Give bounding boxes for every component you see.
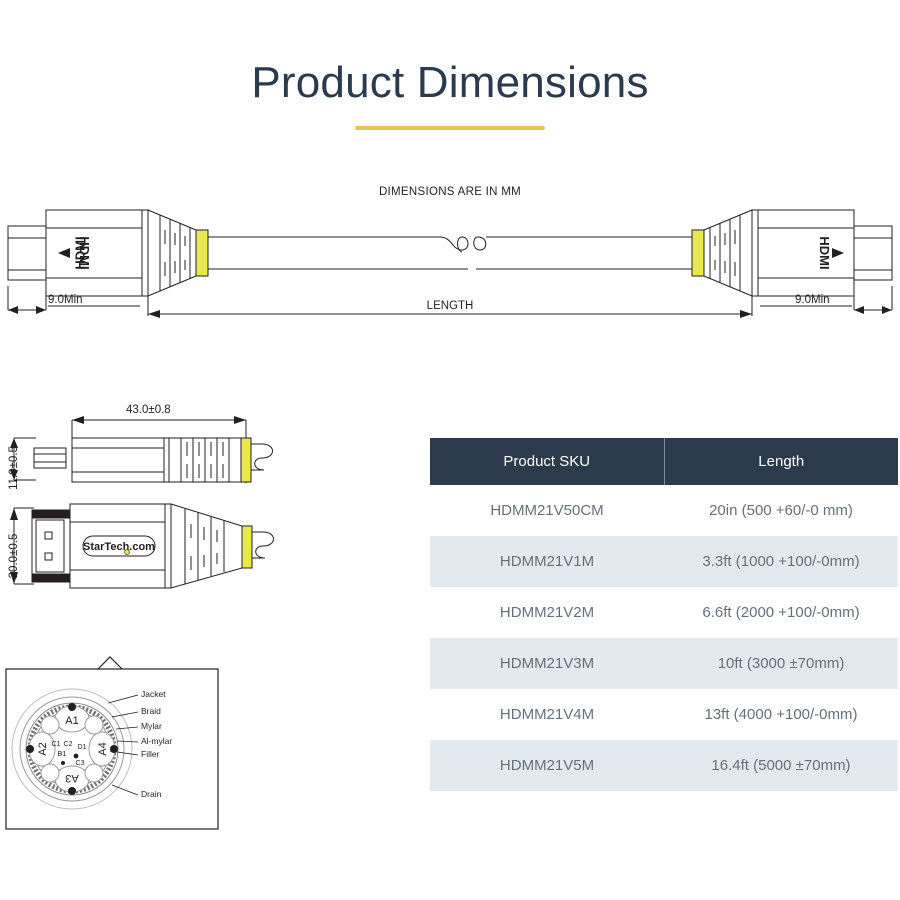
table-row: HDMM21V5M 16.4ft (5000 ±70mm) bbox=[430, 740, 898, 791]
conductor-label-a1: A1 bbox=[65, 715, 78, 727]
connector-top-view-diagram: StarTech.com bbox=[0, 498, 300, 608]
conductor-label-c3: C3 bbox=[76, 760, 85, 767]
column-header-sku: Product SKU bbox=[430, 438, 664, 485]
callout-label-jacket: Jacket bbox=[141, 689, 166, 699]
callout-label-filler: Filler bbox=[141, 749, 160, 759]
product-spec-table: Product SKU Length HDMM21V50CM 20in (500… bbox=[430, 438, 898, 791]
callout-label-al-mylar: Al-mylar bbox=[141, 736, 172, 746]
table-row: HDMM21V3M 10ft (3000 ±70mm) bbox=[430, 638, 898, 689]
svg-text:HDMI: HDMI bbox=[77, 236, 92, 269]
cell-sku: HDMM21V1M bbox=[430, 536, 664, 587]
cable-cross-section-diagram: A1 A2 A3 A4 C1 C2 D1 B1 C3 bbox=[0, 655, 230, 840]
title-accent-bar bbox=[355, 126, 545, 130]
units-note: DIMENSIONS ARE IN MM bbox=[0, 186, 900, 198]
conductor-label-a4: A4 bbox=[97, 742, 109, 755]
conductor-label-c1: C1 bbox=[52, 741, 61, 748]
callout-label-braid: Braid bbox=[141, 706, 161, 716]
conductor-label-c2: C2 bbox=[64, 741, 73, 748]
table-row: HDMM21V1M 3.3ft (1000 +100/-0mm) bbox=[430, 536, 898, 587]
cell-length: 16.4ft (5000 ±70mm) bbox=[664, 740, 898, 791]
cell-length: 13ft (4000 +100/-0mm) bbox=[664, 689, 898, 740]
svg-text:HDMI: HDMI bbox=[817, 236, 832, 269]
page-title: Product Dimensions bbox=[0, 58, 900, 108]
side-view-height-dimension-label: 11.0±0.5 bbox=[8, 438, 20, 498]
conductor-label-b1: B1 bbox=[57, 749, 66, 758]
cable-length-dimension-label: LENGTH bbox=[0, 300, 900, 312]
cell-sku: HDMM21V2M bbox=[430, 587, 664, 638]
column-header-length: Length bbox=[664, 438, 898, 485]
conductor-label-a2: A2 bbox=[37, 742, 49, 755]
cell-sku: HDMM21V5M bbox=[430, 740, 664, 791]
startech-logo-text: StarTech.com bbox=[83, 541, 155, 553]
right-connector-min-dimension-label: 9.0Min bbox=[795, 294, 830, 306]
cell-length: 3.3ft (1000 +100/-0mm) bbox=[664, 536, 898, 587]
table-row: HDMM21V4M 13ft (4000 +100/-0mm) bbox=[430, 689, 898, 740]
callout-label-mylar: Mylar bbox=[141, 721, 162, 731]
top-view-width-dimension-label: 20.0±0.5 bbox=[8, 525, 20, 587]
product-dimensions-page: Product Dimensions DIMENSIONS ARE IN MM bbox=[0, 0, 900, 900]
table-header-row: Product SKU Length bbox=[430, 438, 898, 485]
conductor-label-a3: A3 bbox=[65, 772, 78, 784]
cell-length: 20in (500 +60/-0 mm) bbox=[664, 485, 898, 536]
cell-sku: HDMM21V50CM bbox=[430, 485, 664, 536]
cell-sku: HDMM21V4M bbox=[430, 689, 664, 740]
table-row: HDMM21V50CM 20in (500 +60/-0 mm) bbox=[430, 485, 898, 536]
cell-length: 10ft (3000 ±70mm) bbox=[664, 638, 898, 689]
cell-sku: HDMM21V3M bbox=[430, 638, 664, 689]
callout-label-drain: Drain bbox=[141, 789, 162, 799]
side-view-length-dimension-label: 43.0±0.8 bbox=[126, 404, 171, 416]
table-row: HDMM21V2M 6.6ft (2000 +100/-0mm) bbox=[430, 587, 898, 638]
cell-length: 6.6ft (2000 +100/-0mm) bbox=[664, 587, 898, 638]
conductor-label-d1: D1 bbox=[78, 744, 87, 751]
